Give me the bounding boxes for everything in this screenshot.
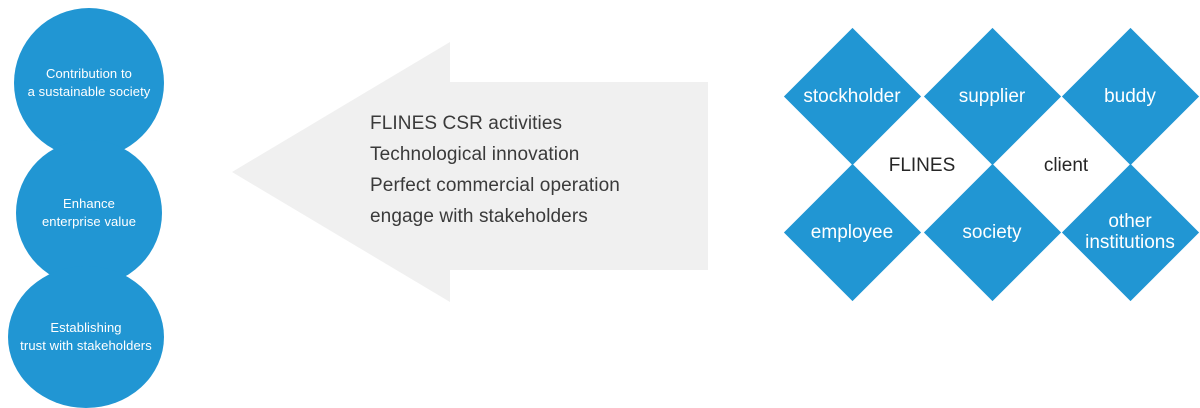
goal-circle-contribution: Contribution to a sustainable society <box>14 8 164 158</box>
arrow-text-block: FLINES CSR activities Technological inno… <box>370 108 700 232</box>
diamond-tile-buddy <box>1062 28 1199 165</box>
diamond-tile-stockholder <box>784 28 921 165</box>
diamond-tile-employee <box>784 164 921 301</box>
arrow-text-line: FLINES CSR activities <box>370 108 700 139</box>
goal-circle-trust: Establishing trust with stakeholders <box>8 266 164 408</box>
diamond-tile-other-institutions <box>1062 164 1199 301</box>
diamond-tile-society <box>924 164 1061 301</box>
diagram-canvas: Contribution to a sustainable society En… <box>0 0 1200 408</box>
interstitial-label-flines: FLINES <box>847 155 997 176</box>
goal-circle-label: Contribution to a sustainable society <box>28 65 151 100</box>
arrow-text-line: Perfect commercial operation <box>370 170 700 201</box>
stakeholder-diamond-grid: stockholder supplier buddy employee soci… <box>780 0 1200 320</box>
diamond-tile-supplier <box>924 28 1061 165</box>
interstitial-label-client: client <box>991 155 1141 176</box>
goal-circle-label: Enhance enterprise value <box>42 195 136 230</box>
goal-circle-enterprise-value: Enhance enterprise value <box>16 140 162 286</box>
arrow-text-line: engage with stakeholders <box>370 201 700 232</box>
arrow-text-line: Technological innovation <box>370 139 700 170</box>
goal-circle-label: Establishing trust with stakeholders <box>20 319 152 354</box>
